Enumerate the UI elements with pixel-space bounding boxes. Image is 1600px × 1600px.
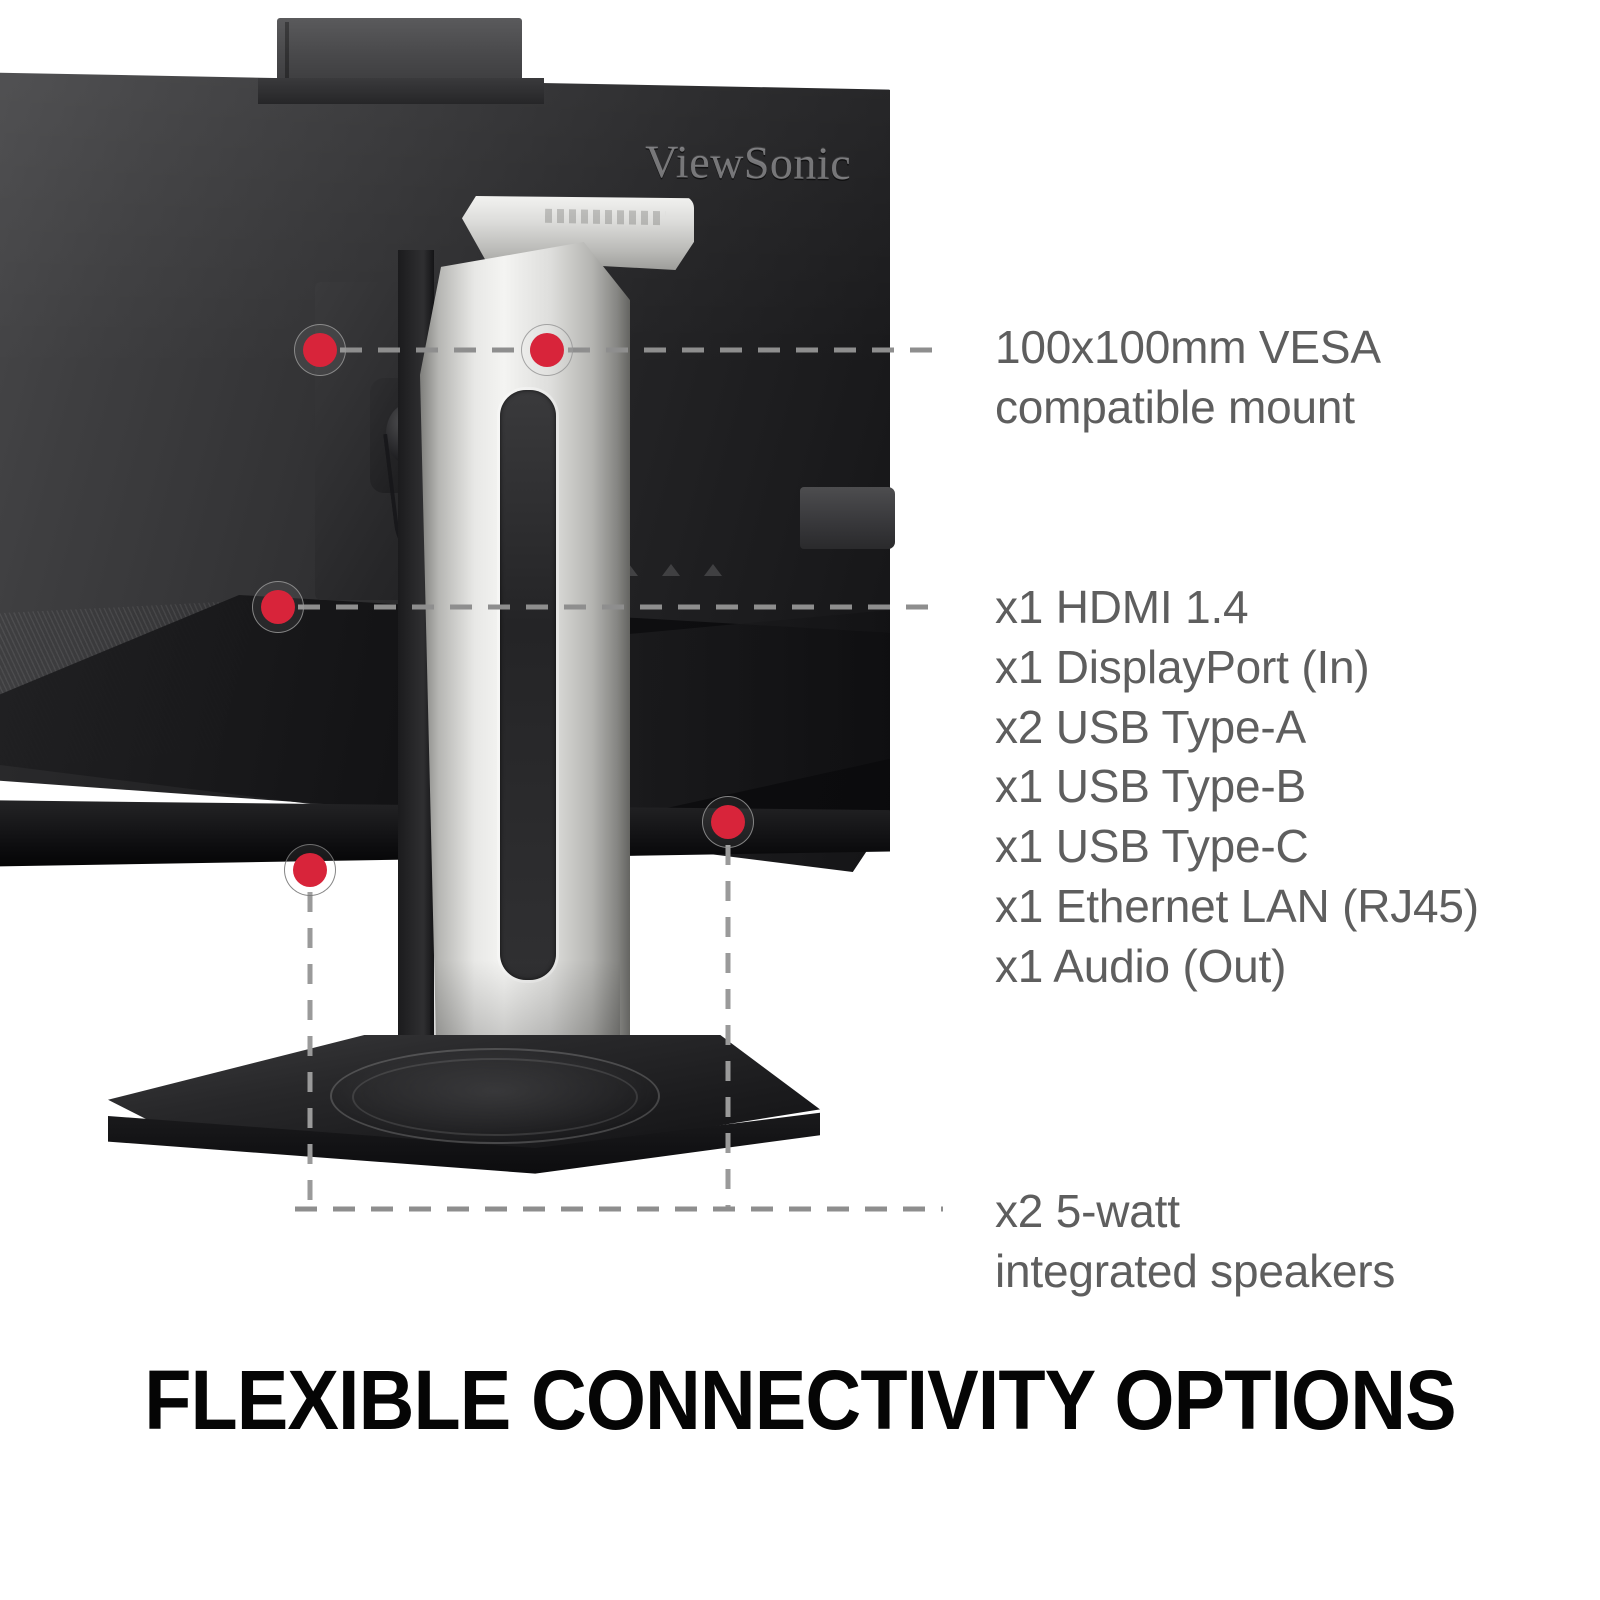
callout-vesa-line-1: 100x100mm VESA: [995, 318, 1381, 378]
callout-port-hdmi: x1 HDMI 1.4: [995, 578, 1479, 638]
marker-vesa-mount-point-left[interactable]: [294, 324, 346, 376]
cable-management-slot: [500, 390, 556, 980]
callout-port-audio: x1 Audio (Out): [995, 937, 1479, 997]
callout-port-usb-c: x1 USB Type-C: [995, 817, 1479, 877]
product-photo: ViewSonic: [0, 0, 960, 1270]
leader-line-speaker-right: [726, 845, 731, 1210]
callout-port-usb-b: x1 USB Type-B: [995, 757, 1479, 817]
leader-line-vesa: [340, 348, 940, 353]
viewsonic-logo: ViewSonic: [645, 135, 852, 190]
callout-port-usb-a: x2 USB Type-A: [995, 698, 1479, 758]
marker-speaker-point-left[interactable]: [284, 844, 336, 896]
leader-line-ports: [298, 605, 940, 610]
marker-vesa-mount-point-right[interactable]: [521, 324, 573, 376]
callout-vesa: 100x100mm VESA compatible mount: [995, 318, 1381, 438]
callout-port-displayport: x1 DisplayPort (In): [995, 638, 1479, 698]
base-swivel-ring-inner: [352, 1058, 638, 1136]
bracket-embossed-logo: [545, 209, 665, 226]
marker-port-cluster-point[interactable]: [252, 581, 304, 633]
callout-ports: x1 HDMI 1.4 x1 DisplayPort (In) x2 USB T…: [995, 578, 1479, 997]
leader-line-speaker-left: [308, 892, 313, 1210]
callout-speakers-line-1: x2 5-watt: [995, 1182, 1395, 1242]
callout-vesa-line-2: compatible mount: [995, 378, 1381, 438]
vent-marks: [620, 560, 780, 582]
callout-port-ethernet: x1 Ethernet LAN (RJ45): [995, 877, 1479, 937]
leader-line-speakers: [295, 1207, 943, 1212]
marker-speaker-point-right[interactable]: [702, 796, 754, 848]
callout-speakers: x2 5-watt integrated speakers: [995, 1182, 1395, 1302]
callout-speakers-line-2: integrated speakers: [995, 1242, 1395, 1302]
infographic-canvas: ViewSonic 100x100mm VESA compatible moun…: [0, 0, 1600, 1600]
cable-clip-tab: [800, 487, 895, 549]
page-headline: FLEXIBLE CONNECTIVITY OPTIONS: [64, 1352, 1536, 1449]
webcam-base: [258, 78, 544, 104]
popup-webcam-module: [277, 18, 522, 84]
